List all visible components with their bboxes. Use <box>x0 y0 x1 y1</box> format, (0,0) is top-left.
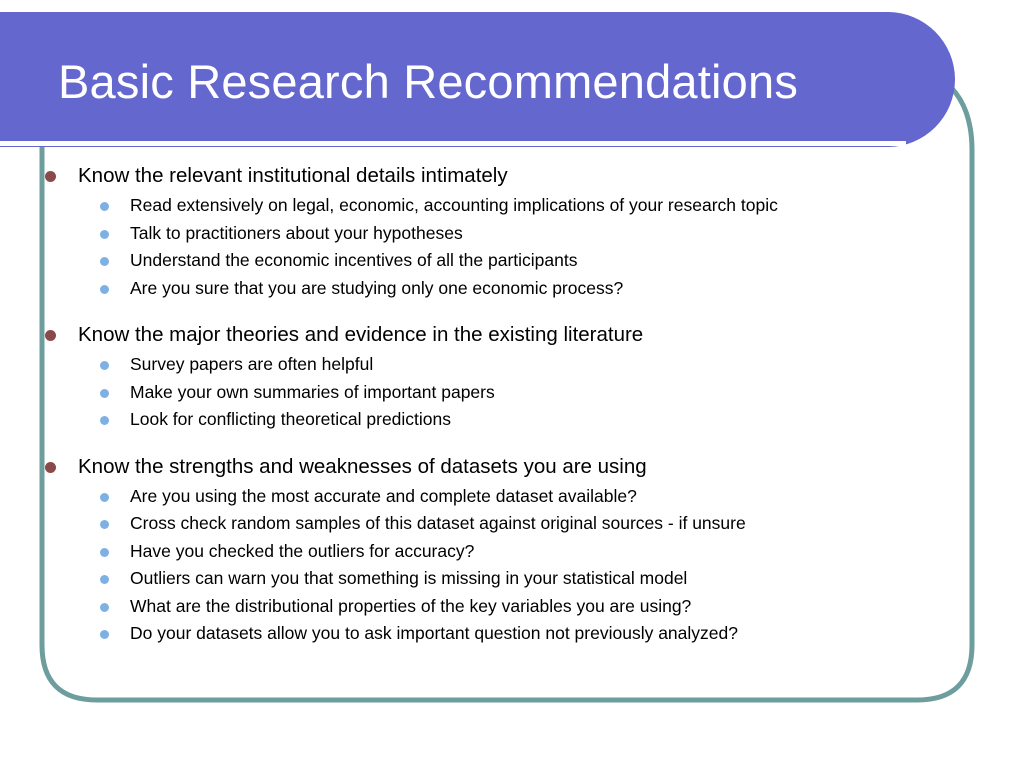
bullet-sublist: Survey papers are often helpful Make you… <box>0 351 1024 434</box>
bullet-dot-icon <box>45 462 56 473</box>
sub-bullet-dot-icon <box>100 389 109 398</box>
bullet-group: Know the relevant institutional details … <box>0 160 1024 302</box>
bullet-dot-icon <box>45 171 56 182</box>
bullet-level2-label: Are you using the most accurate and comp… <box>130 486 637 506</box>
bullet-level2: Look for conflicting theoretical predict… <box>0 406 1024 434</box>
bullet-level1-label: Know the strengths and weaknesses of dat… <box>78 455 647 478</box>
bullet-level2-label: Have you checked the outliers for accura… <box>130 541 474 561</box>
sub-bullet-dot-icon <box>100 416 109 425</box>
sub-bullet-dot-icon <box>100 361 109 370</box>
sub-bullet-dot-icon <box>100 603 109 612</box>
bullet-level2: Talk to practitioners about your hypothe… <box>0 220 1024 248</box>
bullet-level2: Are you sure that you are studying only … <box>0 275 1024 303</box>
bullet-sublist: Are you using the most accurate and comp… <box>0 483 1024 648</box>
bullet-level2: Are you using the most accurate and comp… <box>0 483 1024 511</box>
title-banner: Basic Research Recommendations <box>0 12 955 147</box>
bullet-level2: Make your own summaries of important pap… <box>0 379 1024 407</box>
bullet-level2: Survey papers are often helpful <box>0 351 1024 379</box>
bullet-level2: Cross check random samples of this datas… <box>0 510 1024 538</box>
bullet-level2-label: Talk to practitioners about your hypothe… <box>130 223 463 243</box>
bullet-sublist: Read extensively on legal, economic, acc… <box>0 192 1024 302</box>
bullet-level2-label: Cross check random samples of this datas… <box>130 513 746 533</box>
bullet-level1-label: Know the major theories and evidence in … <box>78 323 643 346</box>
bullet-group: Know the major theories and evidence in … <box>0 319 1024 434</box>
sub-bullet-dot-icon <box>100 202 109 211</box>
bullet-level2: What are the distributional properties o… <box>0 593 1024 621</box>
sub-bullet-dot-icon <box>100 520 109 529</box>
bullet-level2-label: Are you sure that you are studying only … <box>130 278 623 298</box>
bullet-level2-label: What are the distributional properties o… <box>130 596 691 616</box>
bullet-level2: Do your datasets allow you to ask import… <box>0 620 1024 648</box>
bullet-level2: Read extensively on legal, economic, acc… <box>0 192 1024 220</box>
bullet-level2: Understand the economic incentives of al… <box>0 247 1024 275</box>
sub-bullet-dot-icon <box>100 493 109 502</box>
bullet-level2-label: Read extensively on legal, economic, acc… <box>130 195 778 215</box>
bullet-level2: Have you checked the outliers for accura… <box>0 538 1024 566</box>
sub-bullet-dot-icon <box>100 257 109 266</box>
bullet-level2-label: Do your datasets allow you to ask import… <box>130 623 738 643</box>
bullet-level1: Know the strengths and weaknesses of dat… <box>0 451 1024 482</box>
title-divider <box>0 141 906 146</box>
bullet-level1-label: Know the relevant institutional details … <box>78 164 508 187</box>
bullet-level2-label: Understand the economic incentives of al… <box>130 250 577 270</box>
bullet-level1: Know the relevant institutional details … <box>0 160 1024 191</box>
sub-bullet-dot-icon <box>100 630 109 639</box>
sub-bullet-dot-icon <box>100 548 109 557</box>
bullet-group: Know the strengths and weaknesses of dat… <box>0 451 1024 648</box>
presentation-slide: Basic Research Recommendations Know the … <box>0 0 1024 768</box>
bullet-level2-label: Look for conflicting theoretical predict… <box>130 409 451 429</box>
bullet-level2-label: Make your own summaries of important pap… <box>130 382 495 402</box>
bullet-level2-label: Outliers can warn you that something is … <box>130 568 687 588</box>
page-title: Basic Research Recommendations <box>58 54 918 110</box>
sub-bullet-dot-icon <box>100 575 109 584</box>
bullet-dot-icon <box>45 330 56 341</box>
bullet-level2-label: Survey papers are often helpful <box>130 354 373 374</box>
bullet-level2: Outliers can warn you that something is … <box>0 565 1024 593</box>
bullet-level1: Know the major theories and evidence in … <box>0 319 1024 350</box>
sub-bullet-dot-icon <box>100 285 109 294</box>
slide-body: Know the relevant institutional details … <box>0 160 1024 648</box>
sub-bullet-dot-icon <box>100 230 109 239</box>
